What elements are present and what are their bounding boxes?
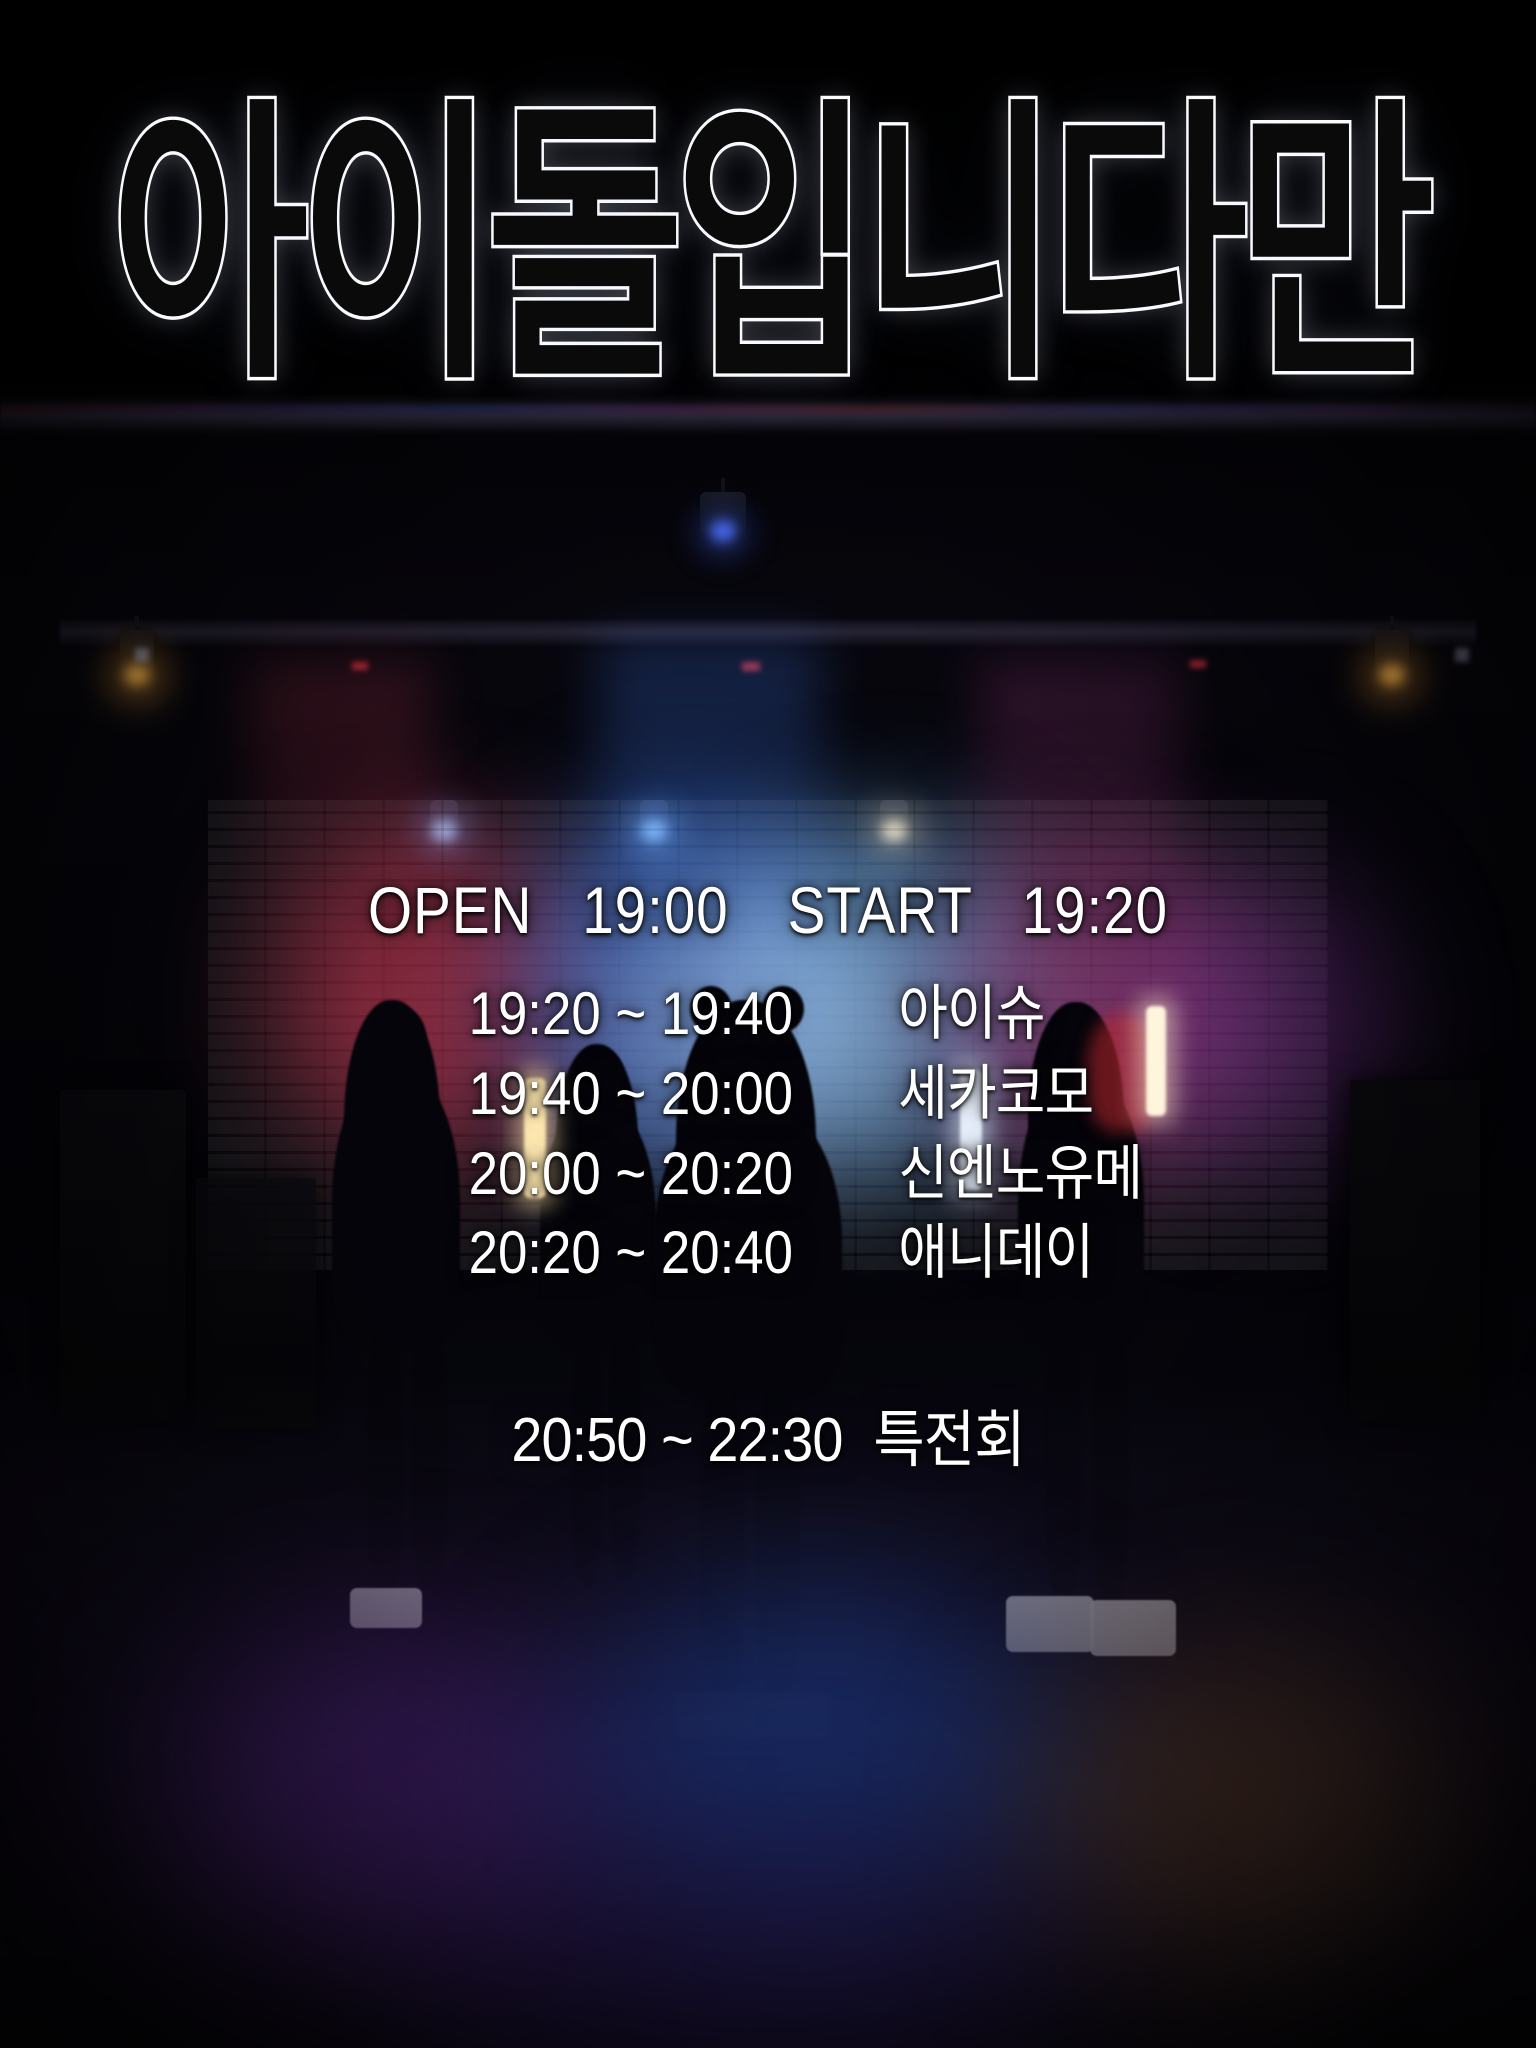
schedule-rows: 19:20 ~ 19:40 아이슈 19:40 ~ 20:00 세카코모 20:… [0,974,1536,1293]
schedule-block: OPEN 19:00 START 19:20 19:20 ~ 19:40 아이슈… [0,872,1536,1479]
schedule-row-time: 20:20 ~ 20:40 [398,1213,864,1293]
schedule-row: 19:40 ~ 20:00 세카코모 [0,1054,1536,1134]
open-label: OPEN [368,873,532,947]
start-label: START [788,873,972,947]
open-time: 19:00 [582,873,728,947]
finale-label: 특전회 [873,1406,1024,1475]
finale-time: 20:50 ~ 22:30 [511,1406,842,1475]
start-time: 19:20 [1022,873,1168,947]
poster-canvas: 아이돌입니다만 OPEN 19:00 START 19:20 19:20 ~ 1… [0,0,1536,2048]
poster-title: 아이돌입니다만 [0,98,1536,395]
open-start-headline: OPEN 19:00 START 19:20 [108,872,1429,948]
schedule-row-time: 20:00 ~ 20:20 [398,1134,864,1214]
schedule-row-time: 19:40 ~ 20:00 [398,1054,864,1134]
schedule-row-act: 세카코모 [864,1054,1168,1134]
schedule-row: 20:20 ~ 20:40 애니데이 [0,1213,1536,1293]
schedule-row-act: 신엔노유메 [864,1134,1168,1214]
schedule-row-time: 19:20 ~ 19:40 [398,974,864,1054]
schedule-row: 19:20 ~ 19:40 아이슈 [0,974,1536,1054]
schedule-row-act: 애니데이 [864,1213,1168,1293]
schedule-row: 20:00 ~ 20:20 신엔노유메 [0,1134,1536,1214]
finale-row: 20:50 ~ 22:30 특전회 [77,1389,1459,1479]
schedule-row-act: 아이슈 [864,974,1168,1054]
